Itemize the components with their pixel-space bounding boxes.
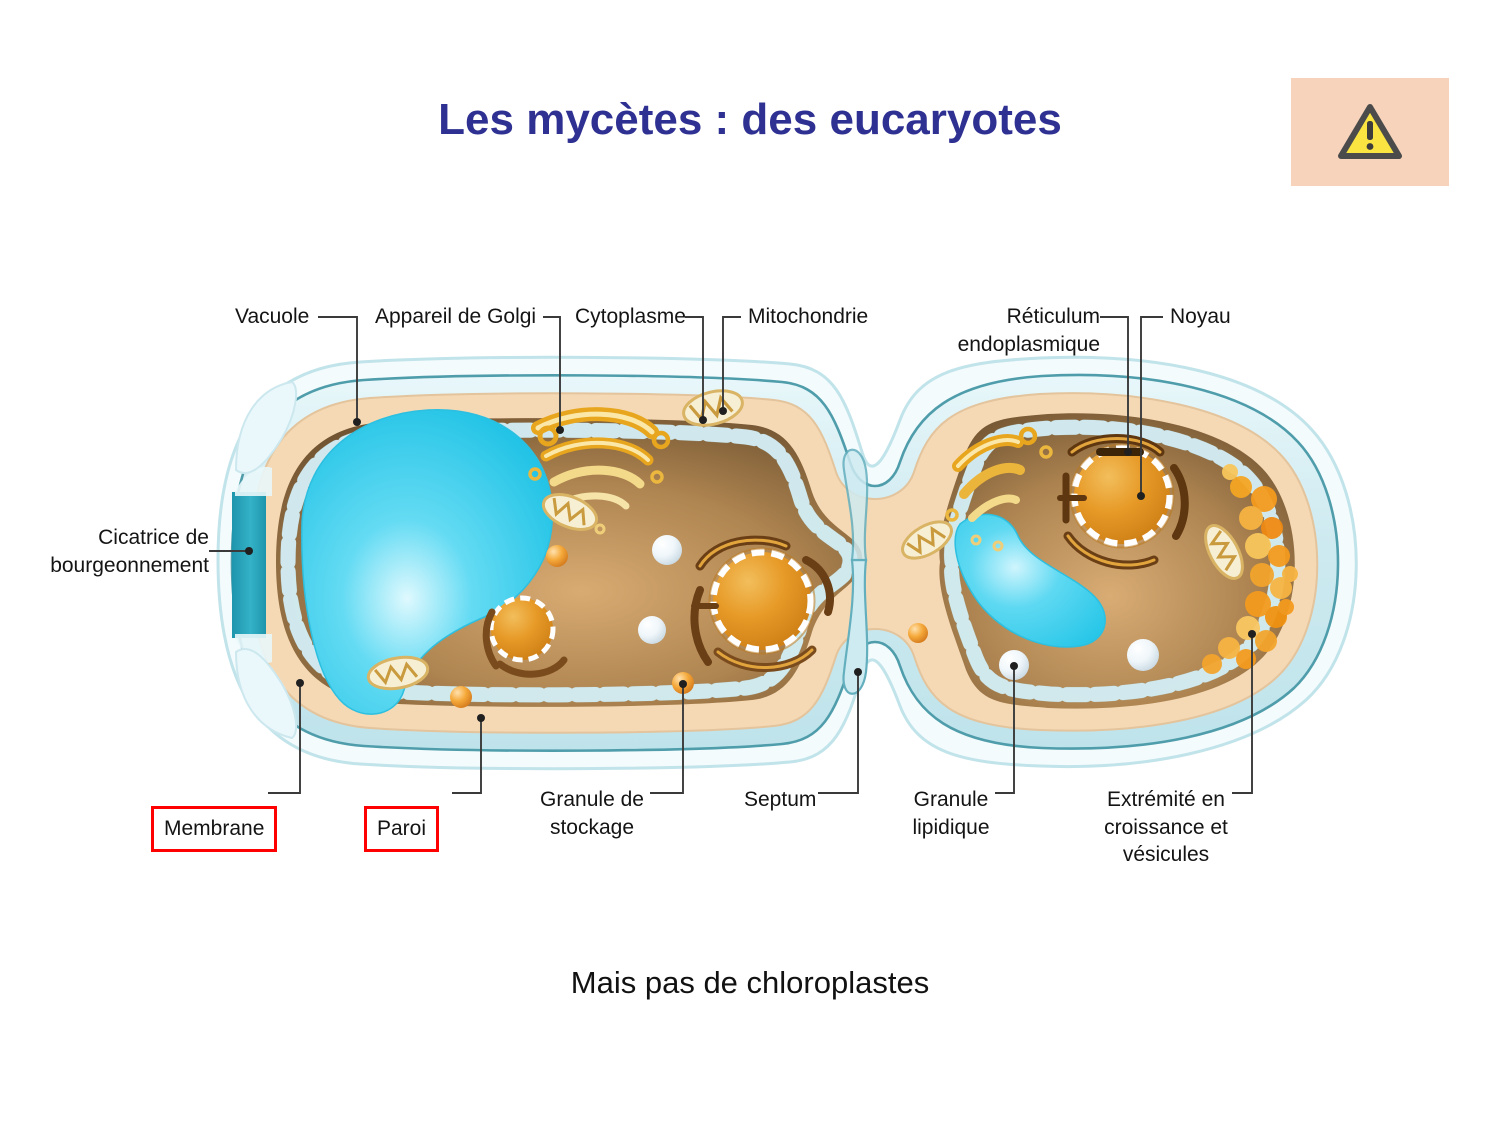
mitochondria-shape	[366, 385, 746, 693]
storage-granule-right-shape	[908, 623, 928, 643]
leader-lines	[209, 317, 1256, 793]
page-title: Les mycètes : des eucaryotes	[0, 96, 1500, 144]
organelle-small-left-shape	[486, 598, 564, 674]
label-appareil-de-golgi: Appareil de Golgi	[375, 303, 536, 331]
mitochondria-right-shape	[897, 514, 1250, 584]
label-extremite-en-croissance-et-vesicules: Extrémité en croissance et vésicules	[1098, 786, 1234, 869]
label-mitochondrie: Mitochondrie	[748, 303, 868, 331]
growth-vesicles-shape	[1202, 464, 1298, 674]
golgi-shape	[530, 414, 668, 533]
storage-granules-left-shape	[450, 545, 694, 708]
bud-scar-shape	[232, 467, 272, 663]
label-cytoplasme: Cytoplasme	[575, 303, 686, 331]
label-granule-lipidique: Granule lipidique	[905, 786, 997, 841]
label-paroi-box: Paroi	[364, 778, 439, 852]
warning-badge	[1291, 78, 1449, 186]
label-cicatrice-de-bourgeonnement: Cicatrice de bourgeonnement	[9, 524, 209, 579]
label-granule-de-stockage: Granule de stockage	[533, 786, 651, 841]
label-membrane: Membrane	[151, 806, 277, 853]
vacuole-shape	[302, 410, 553, 714]
label-septum: Septum	[744, 786, 816, 814]
nucleus-right-shape	[1071, 445, 1174, 548]
endoplasmic-reticulum-left-shape	[694, 540, 830, 667]
label-noyau: Noyau	[1170, 303, 1231, 331]
lipid-granules-left-shape	[638, 535, 682, 644]
septum-shape	[844, 450, 868, 694]
nucleus-left-shape	[710, 549, 815, 654]
fungal-cell-diagram	[0, 0, 1500, 1125]
label-vacuole: Vacuole	[235, 303, 309, 331]
label-reticulum-endoplasmique: Réticulum endoplasmique	[900, 303, 1100, 358]
endoplasmic-reticulum-right-shape	[1060, 439, 1185, 566]
lipid-granules-right-shape	[999, 639, 1159, 680]
label-membrane-box: Membrane	[151, 778, 277, 852]
slide-caption: Mais pas de chloroplastes	[0, 965, 1500, 1001]
vacuole-right-shape	[955, 514, 1105, 647]
label-paroi: Paroi	[364, 806, 439, 853]
golgi-right-shape	[947, 429, 1051, 550]
